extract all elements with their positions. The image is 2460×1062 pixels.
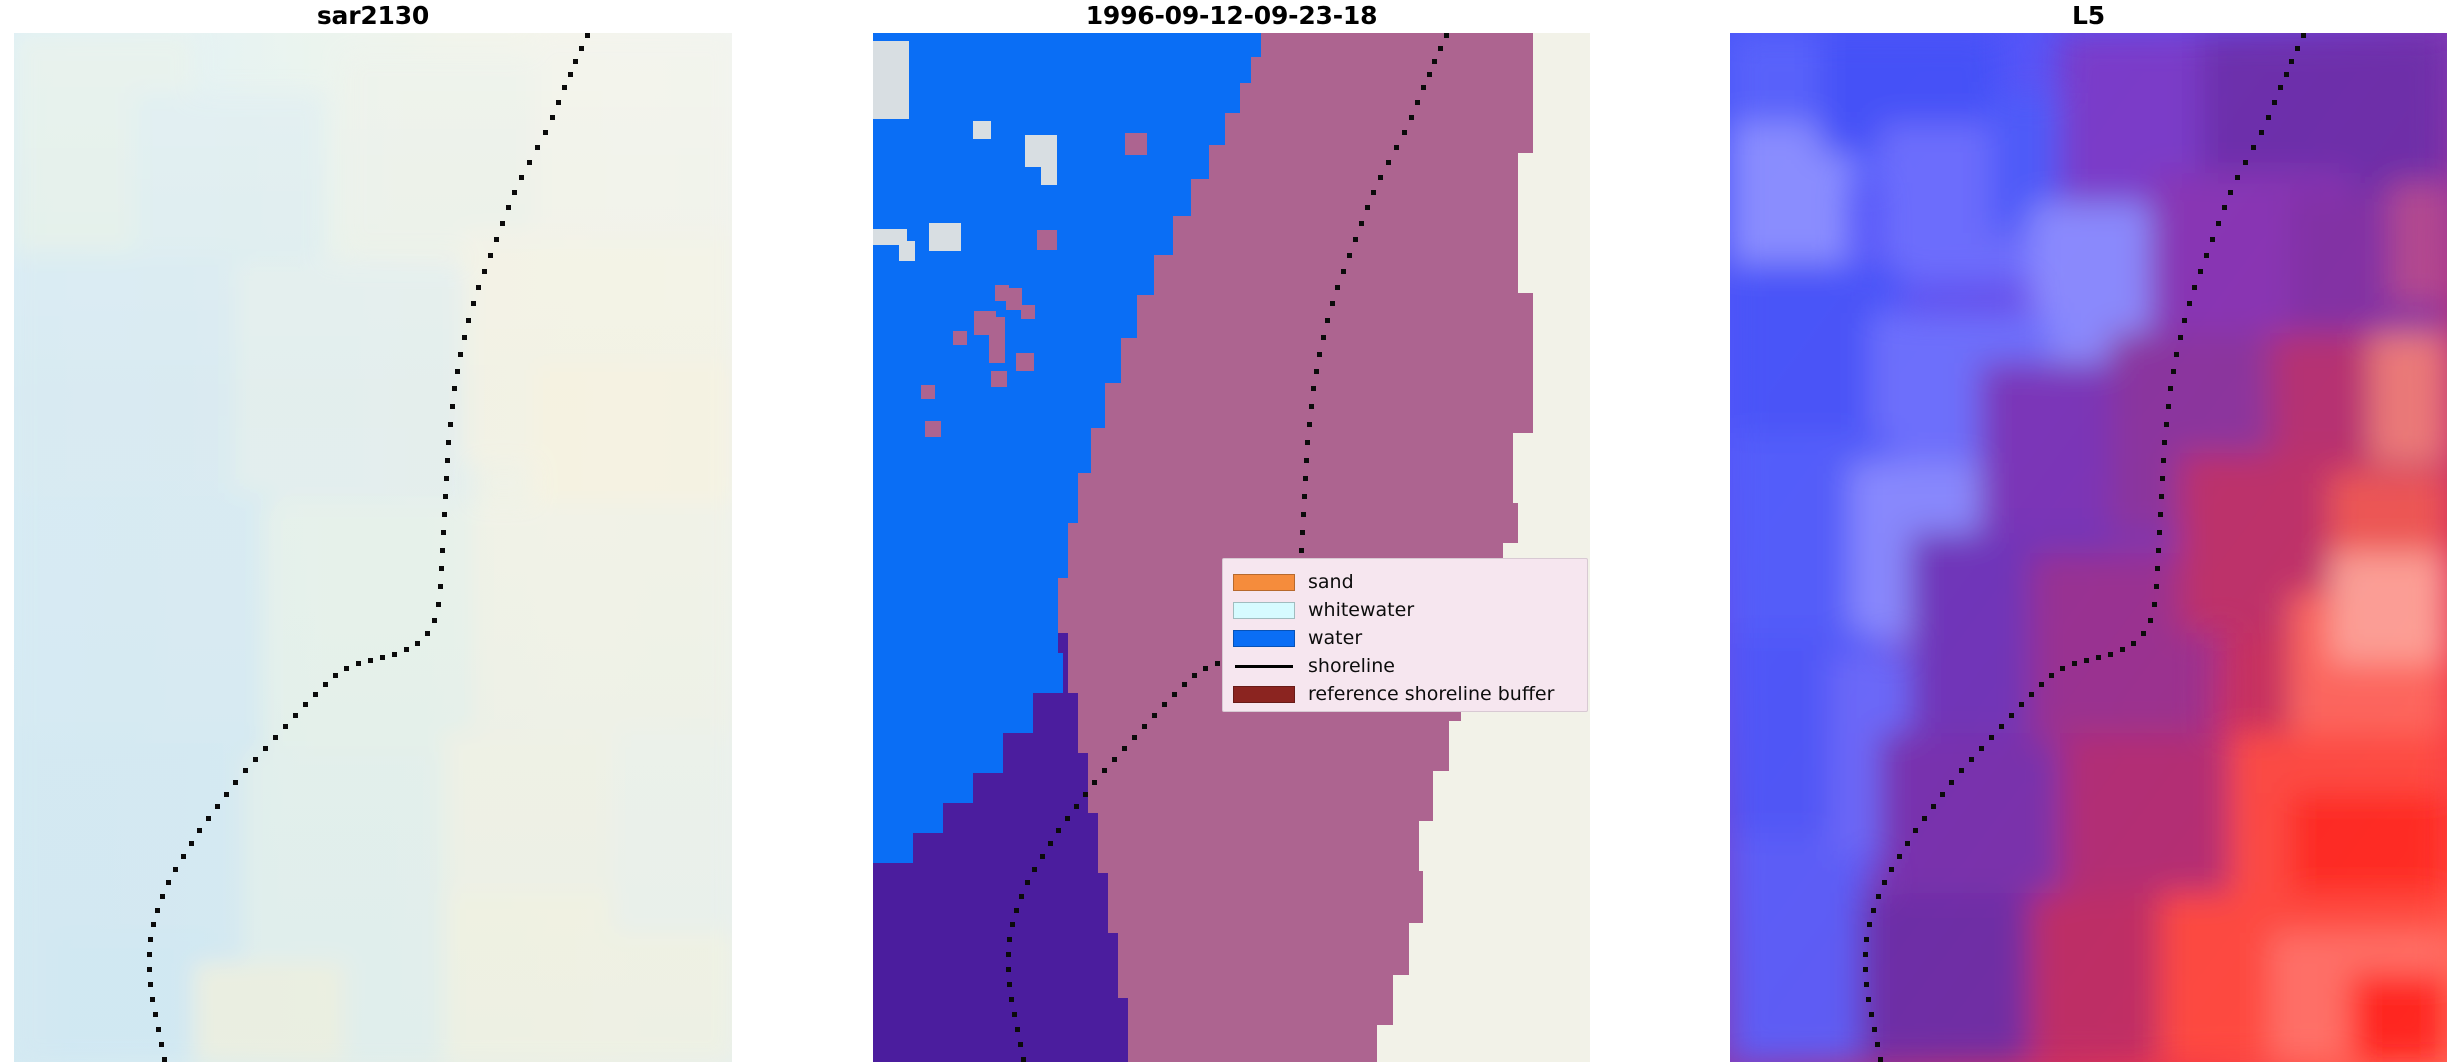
water-swatch-icon <box>1233 630 1295 647</box>
legend-item-sand[interactable]: sand <box>1233 568 1577 596</box>
legend-item-reference-shoreline-buffer[interactable]: reference shoreline buffer <box>1233 680 1577 708</box>
legend-item-water[interactable]: water <box>1233 624 1577 652</box>
panel-title-l5: L5 <box>1730 2 2447 32</box>
panel-title-sar: sar2130 <box>14 2 732 32</box>
shoreline-line-icon <box>1233 665 1295 668</box>
legend[interactable]: sand whitewater water shoreline referenc… <box>1222 558 1588 712</box>
legend-item-shoreline[interactable]: shoreline <box>1233 652 1577 680</box>
legend-label-sand: sand <box>1308 573 1354 592</box>
legend-label-water: water <box>1308 629 1362 648</box>
sar-image <box>14 33 732 1062</box>
whitewater-swatch-icon <box>1233 602 1295 619</box>
legend-label-shoreline: shoreline <box>1308 657 1395 676</box>
panel-title-classification: 1996-09-12-09-23-18 <box>873 2 1590 32</box>
legend-label-buffer: reference shoreline buffer <box>1308 685 1554 704</box>
l5-image <box>1730 33 2447 1062</box>
legend-label-whitewater: whitewater <box>1308 601 1414 620</box>
legend-item-whitewater[interactable]: whitewater <box>1233 596 1577 624</box>
sand-swatch-icon <box>1233 574 1295 591</box>
figure-root: sar2130 <box>0 0 2460 1062</box>
panel-sar2130[interactable] <box>14 33 732 1062</box>
panel-l5[interactable] <box>1730 33 2447 1062</box>
panel-classification[interactable] <box>873 33 1590 1062</box>
classification-image <box>873 33 1590 1062</box>
buffer-swatch-icon <box>1233 686 1295 703</box>
